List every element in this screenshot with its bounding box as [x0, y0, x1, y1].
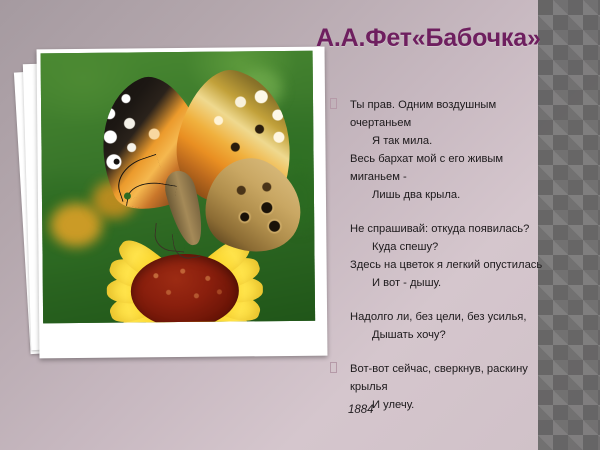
bullet-marker-icon — [330, 362, 337, 373]
poem-line: Ты прав. Одним воздушным — [350, 96, 592, 114]
butterfly-icon — [93, 73, 287, 275]
poem-stanza: Надолго ли, без цели, без усилья, Дышать… — [330, 308, 592, 344]
butterfly-antenna-tip — [114, 159, 120, 165]
poem-stanza: Не спрашивай: откуда появилась? Куда спе… — [330, 220, 592, 292]
page-title: А.А.Фет«Бабочка» — [316, 24, 594, 53]
poem-line: Куда спешу? — [350, 238, 592, 256]
poem-stanza: Ты прав. Одним воздушным очертаньем Я та… — [330, 96, 592, 204]
poem-line: крылья — [350, 378, 592, 396]
poem-line: Вот-вот сейчас, сверкнув, раскину — [350, 360, 592, 378]
poem-line: Лишь два крыла. — [350, 186, 592, 204]
presentation-slide: А.А.Фет«Бабочка» — [0, 0, 600, 450]
photo-stack — [22, 48, 318, 353]
poem-line: И вот - дышу. — [350, 274, 592, 292]
poem-line: Не спрашивай: откуда появилась? — [350, 220, 592, 238]
poem-line: И улечу. — [350, 396, 592, 414]
poem-line: Я так мила. — [350, 132, 592, 150]
butterfly-leg — [172, 230, 201, 260]
poem-line: Здесь на цветок я легкий опустилась — [350, 256, 592, 274]
photo-card-front — [37, 47, 328, 359]
poem-line: Дышать хочу? — [350, 326, 592, 344]
poem-date: 1884 — [348, 404, 374, 416]
poem-text-block: Ты прав. Одним воздушным очертаньем Я та… — [330, 96, 592, 414]
poem-line: Надолго ли, без цели, без усилья, — [350, 308, 592, 326]
poem-line: Весь бархат мой с его живым — [350, 150, 592, 168]
bullet-marker-icon — [330, 98, 337, 109]
poem-line: очертаньем — [350, 114, 592, 132]
butterfly-photo — [41, 51, 316, 324]
poem-line: миганьем - — [350, 168, 592, 186]
butterfly-antenna-tip — [124, 192, 131, 199]
